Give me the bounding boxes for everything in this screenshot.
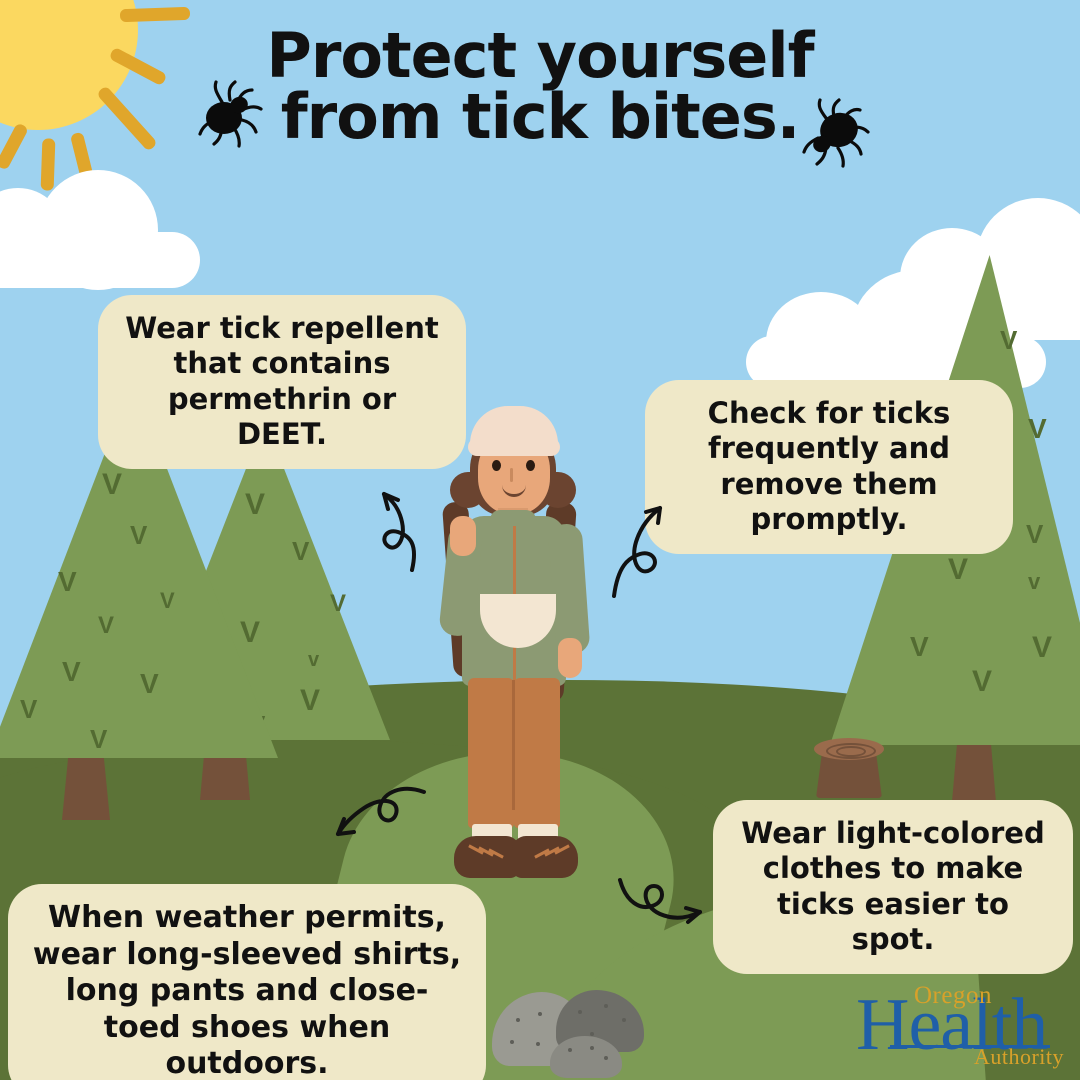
title-line-2: from tick bites. (0, 87, 1080, 148)
page-title: Protect yourself from tick bites. (0, 26, 1080, 148)
tip-text: Wear light-colored clothes to make ticks… (741, 816, 1044, 956)
oregon-health-authority-logo: Health Oregon Authority (856, 974, 1066, 1074)
hiker-illustration (430, 398, 630, 878)
tip-text: Wear tick repellent that contains permet… (125, 311, 438, 451)
rock-icon (550, 1036, 630, 1080)
tip-bubble-light-colors: Wear light-colored clothes to make ticks… (713, 800, 1073, 974)
tick-icon (192, 76, 268, 152)
tree-stump-icon (810, 736, 890, 798)
curly-arrow-icon (326, 782, 430, 864)
logo-authority-text: Authority (974, 1044, 1064, 1070)
tip-text: Check for ticks frequently and remove th… (708, 396, 951, 536)
curly-arrow-icon (366, 478, 446, 574)
infographic-poster: V V V V v V V V V V V V V V V V V V V V … (0, 0, 1080, 1080)
tip-bubble-repellent: Wear tick repellent that contains permet… (98, 295, 466, 469)
tip-bubble-check-ticks: Check for ticks frequently and remove th… (645, 380, 1013, 554)
cloud-icon (0, 170, 210, 280)
tip-bubble-clothing: When weather permits, wear long-sleeved … (8, 884, 486, 1080)
logo-oregon-text: Oregon (914, 982, 992, 1010)
tick-icon (798, 96, 874, 172)
curly-arrow-icon (602, 490, 688, 600)
curly-arrow-icon (612, 866, 716, 942)
tip-text: When weather permits, wear long-sleeved … (33, 900, 461, 1080)
